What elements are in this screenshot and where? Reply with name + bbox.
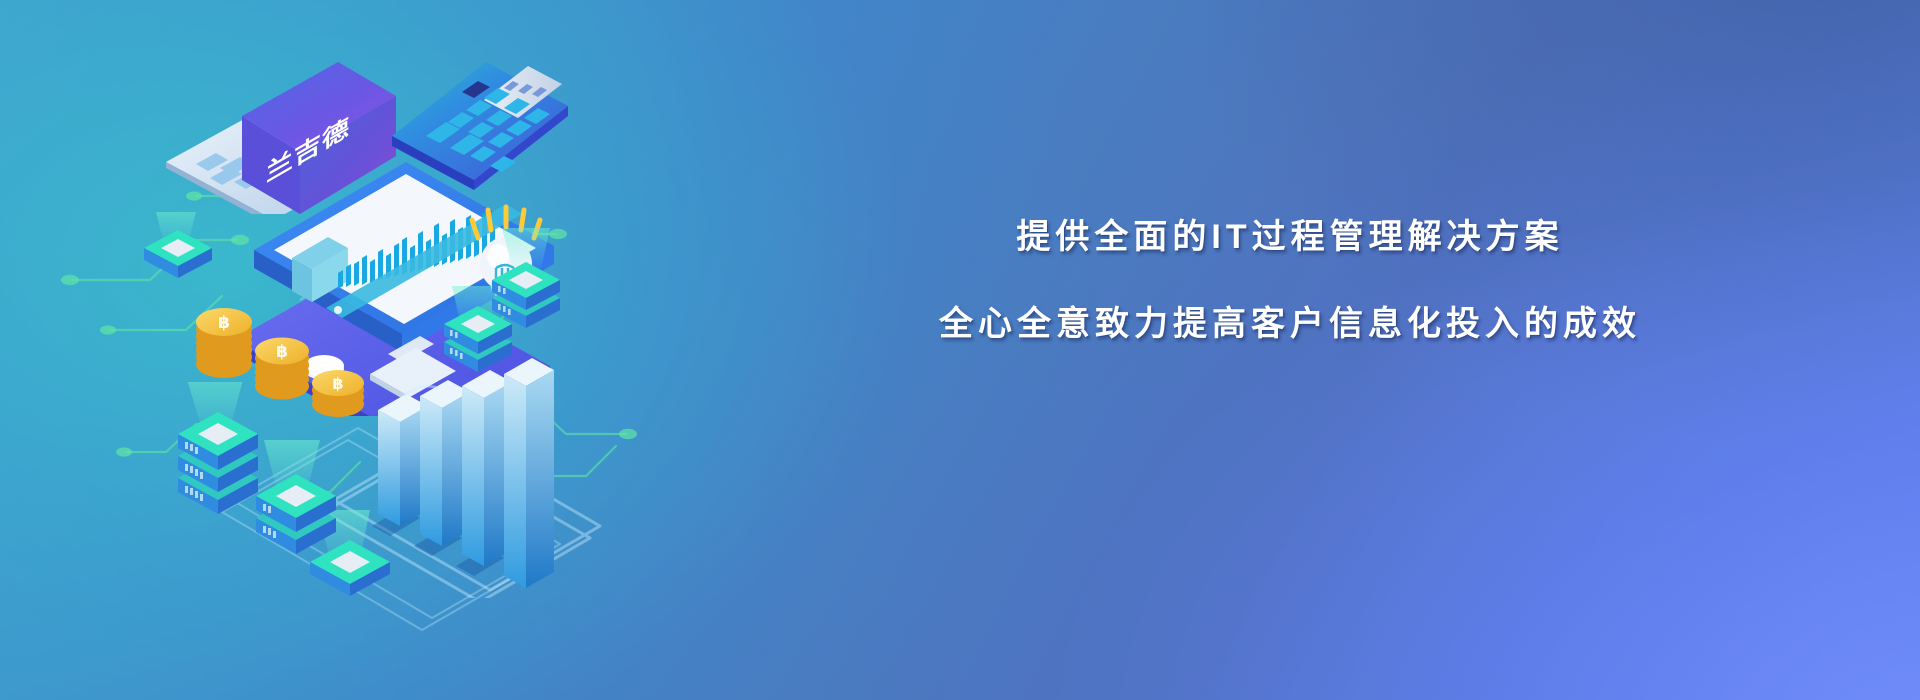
isometric-illustration: 兰吉德 (110, 30, 750, 650)
hero-banner: 兰吉德 (0, 0, 1920, 700)
coin-symbol: ฿ (218, 313, 230, 332)
server-stack-far (140, 208, 220, 288)
server-stack-right (440, 226, 600, 386)
headline-block: 提供全面的IT过程管理解决方案 全心全意致力提高客户信息化投入的成效 (780, 216, 1800, 345)
headline-line-2: 全心全意致力提高客户信息化投入的成效 (780, 303, 1800, 346)
coin-symbol: ฿ (276, 342, 288, 361)
headline-line-1: 提供全面的IT过程管理解决方案 (780, 216, 1800, 259)
headline-spacer (780, 259, 1800, 303)
server-stack-left (170, 382, 390, 612)
